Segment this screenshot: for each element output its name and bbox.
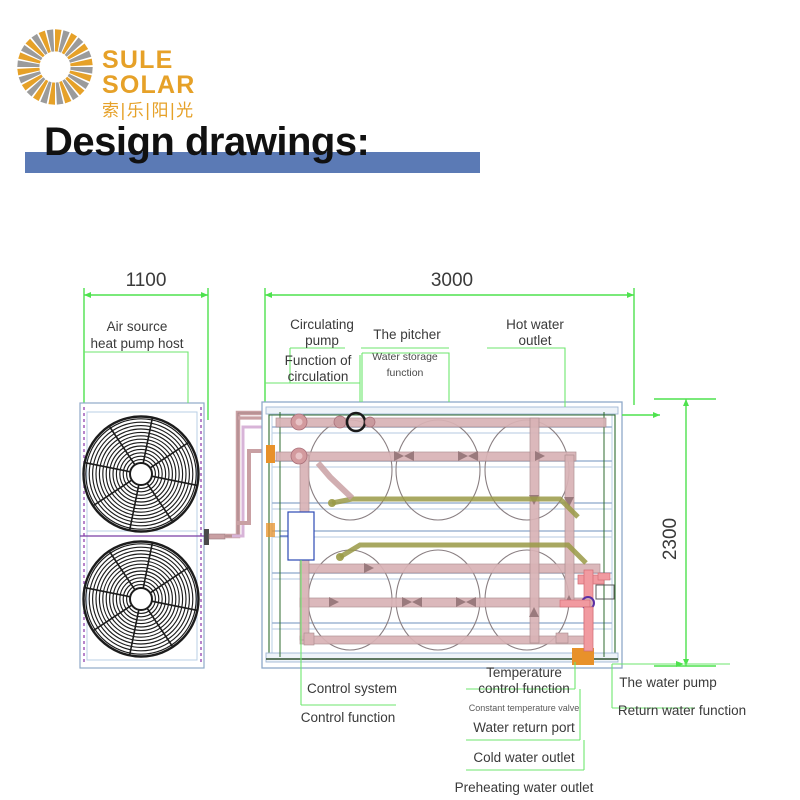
callout-function-of-circulation: Function of circulation — [265, 353, 360, 402]
callout-label-line: control function — [478, 681, 570, 696]
callout-label-line: Water return port — [473, 720, 575, 735]
callout-label-line: heat pump host — [90, 336, 183, 351]
design-drawing: 1100 3000 2300 — [0, 255, 800, 800]
callout-label-line: outlet — [518, 333, 551, 348]
air-source-heat-pump-unit — [80, 403, 225, 668]
slide-canvas: SULE SOLAR 索|乐|阳|光 Design drawings: 1100… — [0, 0, 800, 800]
callout-hot-water-outlet: Hot water outlet — [487, 317, 565, 407]
callout-label-line: function — [387, 367, 424, 379]
callout-constant-temperature-valve: Constant temperature valve — [469, 703, 580, 713]
page-title: Design drawings: — [44, 122, 369, 162]
callout-label-line: Return water function — [618, 703, 746, 718]
dimension-1100-value: 1100 — [126, 270, 167, 291]
callout-water-return-port: Water return port — [466, 689, 580, 740]
callout-label-line: Hot water — [506, 317, 564, 332]
callout-label-line: Cold water outlet — [473, 750, 575, 765]
brand-logo: SULE SOLAR 索|乐|阳|光 — [14, 26, 264, 108]
callout-label-line: Air source — [107, 319, 168, 334]
callout-label-line: pump — [305, 333, 339, 348]
callout-label-line: Circulating — [290, 317, 354, 332]
callout-air-source-heat-pump-host: Air source heat pump host — [84, 319, 188, 403]
brand-name-cn: 索|乐|阳|光 — [102, 103, 264, 120]
callout-label-line: Temperature — [486, 665, 562, 680]
sunburst-logo-icon — [14, 26, 96, 108]
callout-label-line: The water pump — [619, 675, 717, 690]
callout-label-line: Control system — [307, 681, 397, 696]
water-storage-tank-assembly — [262, 402, 622, 668]
callout-label-line: Water storage — [372, 351, 438, 363]
refrigerant-pipe-run — [225, 413, 262, 536]
callout-label-line: Control function — [301, 710, 396, 725]
callout-the-water-pump: The water pump Return water function — [612, 661, 746, 718]
callout-label-line: Preheating water outlet — [455, 780, 594, 795]
dimension-3000-value: 3000 — [431, 270, 473, 291]
callout-label-line: Constant temperature valve — [469, 703, 580, 713]
callout-preheating-water-outlet: Preheating water outlet — [455, 780, 594, 795]
brand-name-en: SULE SOLAR — [102, 48, 264, 98]
callout-label-line: The pitcher — [373, 327, 441, 342]
callout-label-line: circulation — [288, 369, 349, 384]
dimension-2300-value: 2300 — [660, 518, 681, 560]
callout-the-pitcher: The pitcher — [361, 327, 449, 348]
callout-cold-water-outlet: Cold water outlet — [466, 740, 584, 770]
callout-label-line: Function of — [285, 353, 352, 368]
brand-wordmark: SULE SOLAR 索|乐|阳|光 — [102, 48, 264, 120]
dimension-2300: 2300 — [654, 399, 716, 666]
callout-water-storage-function: Water storage function — [362, 351, 449, 402]
